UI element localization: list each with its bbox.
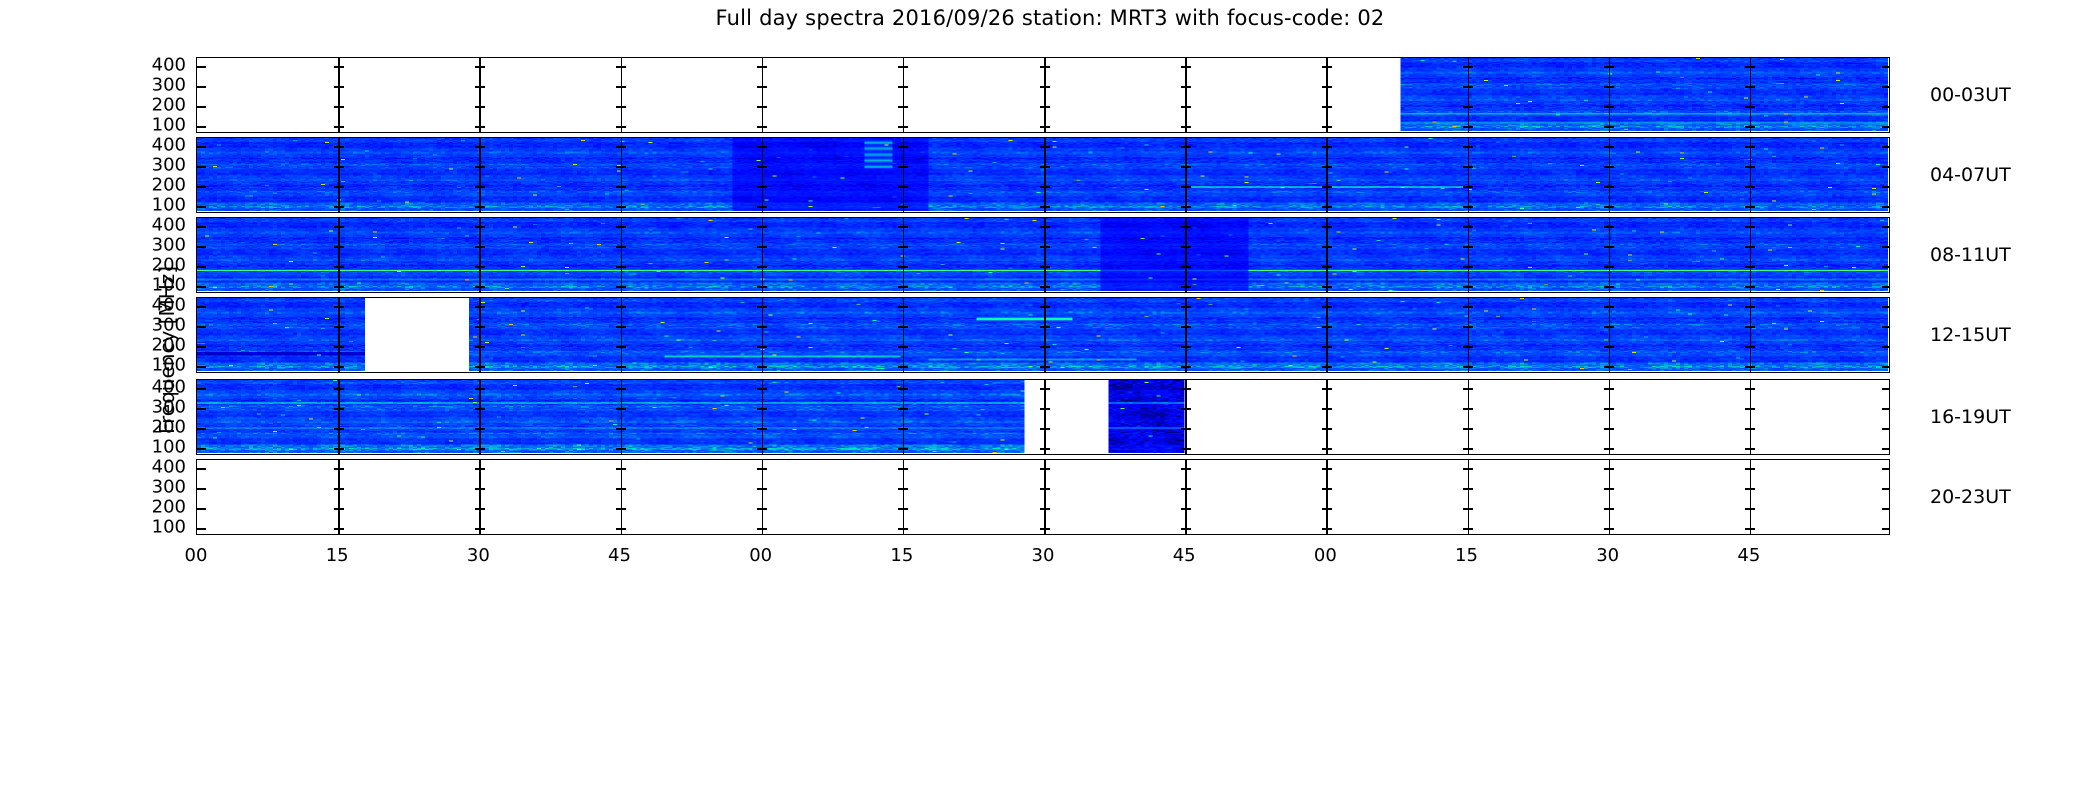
panel-frame [196, 217, 1890, 293]
spectrogram-canvas [197, 138, 1888, 211]
y-tick-label: 100 [128, 195, 186, 216]
spectrogram-panel-00-03ut[interactable] [196, 57, 1890, 133]
y-tick-label: 100 [128, 517, 186, 538]
panel-frame [196, 459, 1890, 535]
x-tick-label: 45 [1737, 545, 1760, 566]
y-tick-label: 200 [128, 335, 186, 356]
spectrogram-panel-16-19ut[interactable] [196, 379, 1890, 455]
y-tick-label: 100 [128, 115, 186, 136]
x-tick-label: 30 [467, 545, 490, 566]
x-tick-label: 00 [185, 545, 208, 566]
spectrogram-canvas [197, 298, 1888, 371]
y-tick-label: 200 [128, 175, 186, 196]
spectrogram-image [197, 298, 1889, 372]
y-tick-label: 400 [128, 295, 186, 316]
y-tick-label: 300 [128, 315, 186, 336]
panel-frame [196, 297, 1890, 373]
spectrogram-panel-08-11ut[interactable] [196, 217, 1890, 293]
y-tick-label: 300 [128, 477, 186, 498]
spectrogram-image [197, 218, 1889, 292]
y-tick-label: 100 [128, 437, 186, 458]
row-label-16-19ut: 16-19UT [1930, 406, 2011, 428]
y-tick-label: 300 [128, 75, 186, 96]
spectrogram-image [197, 138, 1889, 212]
y-tick-label: 300 [128, 397, 186, 418]
spectrogram-image [197, 380, 1889, 454]
spectrogram-panel-12-15ut[interactable] [196, 297, 1890, 373]
row-label-20-23ut: 20-23UT [1930, 486, 2011, 508]
panel-frame [196, 137, 1890, 213]
x-tick-label: 30 [1032, 545, 1055, 566]
spectrogram-image [197, 58, 1889, 132]
x-tick-label: 00 [1314, 545, 1337, 566]
row-label-08-11ut: 08-11UT [1930, 244, 2011, 266]
spectrogram-canvas [197, 218, 1888, 291]
panel-frame [196, 379, 1890, 455]
y-tick-label: 400 [128, 55, 186, 76]
y-tick-label: 200 [128, 417, 186, 438]
x-tick-label: 15 [326, 545, 349, 566]
y-tick-label: 200 [128, 497, 186, 518]
spectrogram-canvas [197, 58, 1888, 131]
y-tick-label: 400 [128, 215, 186, 236]
page-title: Full day spectra 2016/09/26 station: MRT… [0, 6, 2100, 30]
spectrogram-panel-04-07ut[interactable] [196, 137, 1890, 213]
spectrogram-panel-20-23ut[interactable] [196, 459, 1890, 535]
x-tick-label: 45 [608, 545, 631, 566]
row-label-12-15ut: 12-15UT [1930, 324, 2011, 346]
y-tick-label: 400 [128, 457, 186, 478]
x-tick-label: 45 [1173, 545, 1196, 566]
y-tick-label: 100 [128, 355, 186, 376]
row-label-04-07ut: 04-07UT [1930, 164, 2011, 186]
spectrogram-canvas [197, 380, 1888, 453]
y-tick-label: 300 [128, 155, 186, 176]
x-axis: 001530450015304500153045 [196, 535, 1890, 575]
y-tick-label: 400 [128, 377, 186, 398]
panel-frame [196, 57, 1890, 133]
spectrogram-image [197, 460, 1889, 534]
y-tick-label: 400 [128, 135, 186, 156]
x-tick-label: 15 [1455, 545, 1478, 566]
x-tick-label: 00 [749, 545, 772, 566]
y-tick-label: 200 [128, 255, 186, 276]
y-tick-label: 300 [128, 235, 186, 256]
y-tick-label: 200 [128, 95, 186, 116]
x-tick-label: 30 [1596, 545, 1619, 566]
x-tick-label: 15 [890, 545, 913, 566]
y-tick-label: 100 [128, 275, 186, 296]
spectrogram-canvas [197, 460, 1888, 533]
row-label-00-03ut: 00-03UT [1930, 84, 2011, 106]
